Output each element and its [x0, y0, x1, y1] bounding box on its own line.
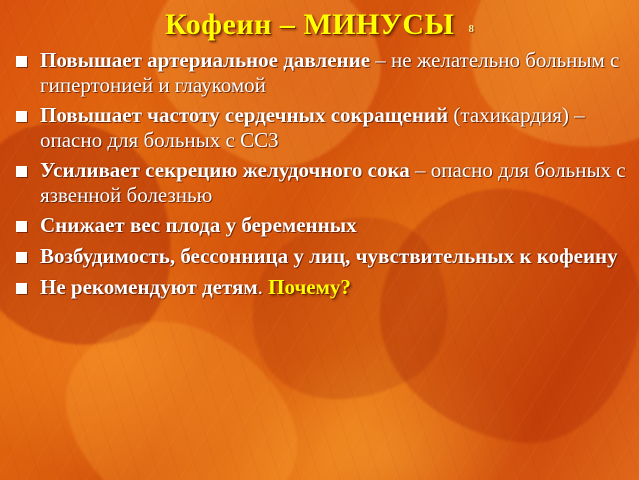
slide-title: Кофеин – МИНУСЫ: [165, 8, 455, 42]
bullet-item: Снижает вес плода у беременных: [14, 213, 631, 238]
slide-title-row: Кофеин – МИНУСЫ 8: [0, 0, 639, 42]
bullet-text: Повышает частоту сердечных сокращений: [40, 103, 448, 127]
bullet-square-icon: [16, 221, 27, 232]
bullet-item: Повышает частоту сердечных сокращений (т…: [14, 103, 631, 152]
bullet-list: Повышает артериальное давление – не жела…: [0, 48, 639, 299]
bullet-highlight-text: Почему?: [268, 275, 351, 299]
bullet-square-icon: [16, 252, 27, 263]
bullet-item: Возбудимость, бессонница у лиц, чувствит…: [14, 244, 631, 269]
bullet-text: Повышает артериальное давление: [40, 48, 370, 72]
bullet-text: .: [258, 275, 269, 299]
bullet-item: Повышает артериальное давление – не жела…: [14, 48, 631, 97]
bullet-text: Не рекомендуют детям: [40, 275, 258, 299]
bullet-text: Снижает вес плода у беременных: [40, 213, 357, 237]
bullet-text: Усиливает секрецию желудочного сока: [40, 158, 410, 182]
bullet-item: Усиливает секрецию желудочного сока – оп…: [14, 158, 631, 207]
bullet-square-icon: [16, 56, 27, 67]
bullet-item: Не рекомендуют детям. Почему?: [14, 275, 631, 300]
bullet-text: Возбудимость, бессонница у лиц, чувствит…: [40, 244, 618, 268]
slide-canvas: Кофеин – МИНУСЫ 8 Повышает артериальное …: [0, 0, 639, 480]
slide-content: Кофеин – МИНУСЫ 8 Повышает артериальное …: [0, 0, 639, 480]
slide-number: 8: [469, 23, 475, 35]
bullet-square-icon: [16, 111, 27, 122]
bullet-square-icon: [16, 283, 27, 294]
bullet-square-icon: [16, 166, 27, 177]
